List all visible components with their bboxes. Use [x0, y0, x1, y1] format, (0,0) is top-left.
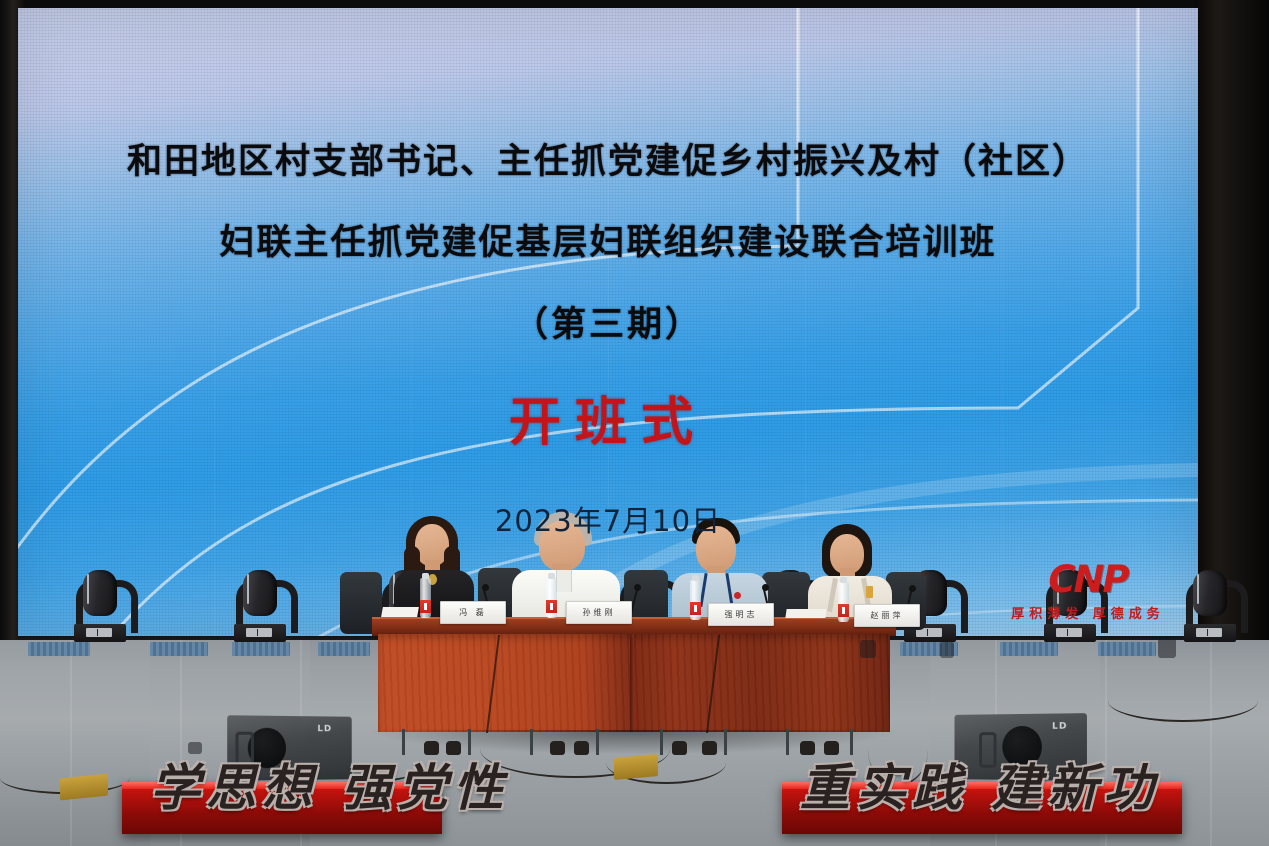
floor-vent: [232, 642, 290, 656]
floor-vent: [150, 642, 208, 656]
nameplate-text: 强明志: [725, 609, 758, 620]
audience-silhouette: [940, 642, 954, 658]
nameplate: 强明志: [708, 603, 774, 626]
water-bottle: [546, 578, 557, 618]
stage-photo: 和田地区村支部书记、主任抓党建促乡村振兴及村（社区） 妇联主任抓党建促基层妇联组…: [0, 0, 1269, 846]
table-front-panel: [378, 634, 890, 732]
slide-headline: 开班式: [18, 380, 1198, 455]
nameplate-text: 孙维刚: [583, 607, 616, 618]
slide-date: 2023年7月10日: [18, 498, 1198, 540]
microphone-head: [634, 584, 641, 591]
nameplate-text: 赵丽萍: [871, 610, 904, 621]
floor-cable: [1108, 680, 1258, 722]
microphone-head: [482, 584, 489, 591]
nameplate: 赵丽萍: [854, 604, 920, 627]
stage-light-moving-head: [232, 568, 288, 644]
microphone-head: [762, 584, 769, 591]
audience-silhouette: [1158, 638, 1176, 658]
wood-grain-texture: [378, 634, 890, 732]
nameplate: 冯 磊: [440, 601, 506, 624]
floor-vent: [28, 642, 90, 656]
floor-vent: [1098, 642, 1156, 656]
table-section-joint: [630, 634, 634, 732]
water-bottle: [838, 582, 849, 622]
sponsor-logo-mark: CNP: [993, 561, 1183, 598]
floor-vent: [1000, 642, 1058, 656]
banner-text-left: 学思想 强党性: [150, 748, 509, 820]
slide-title-line-1: 和田地区村支部书记、主任抓党建促乡村振兴及村（社区）: [18, 133, 1198, 184]
audience-silhouette: [860, 640, 876, 658]
water-bottle: [420, 578, 431, 618]
paper-sheet: [785, 609, 826, 618]
sponsor-logo-tagline: 厚积薄发 厚德成务: [993, 603, 1183, 622]
slide-title-line-2: 妇联主任抓党建促基层妇联组织建设联合培训班: [18, 214, 1198, 265]
slide-title-line-3: （第三期）: [18, 296, 1198, 347]
microphone-head: [909, 585, 916, 592]
floor-vent: [318, 642, 370, 656]
stage-light-moving-head: [72, 568, 128, 644]
sponsor-logo: CNP 厚积薄发 厚德成务: [993, 561, 1183, 622]
monitor-brand-label: LD: [317, 724, 332, 734]
nameplate: 孙维刚: [566, 601, 632, 624]
nameplate-text: 冯 磊: [459, 607, 487, 618]
right-wall: [1195, 0, 1269, 650]
banner-text-right: 重实践 建新功: [800, 748, 1159, 820]
cable-ramp-block: [614, 754, 658, 780]
monitor-brand-label: LD: [1052, 722, 1068, 732]
paper-sheet: [381, 607, 419, 617]
water-bottle: [690, 580, 701, 620]
stage-light-moving-head: [1182, 568, 1238, 644]
